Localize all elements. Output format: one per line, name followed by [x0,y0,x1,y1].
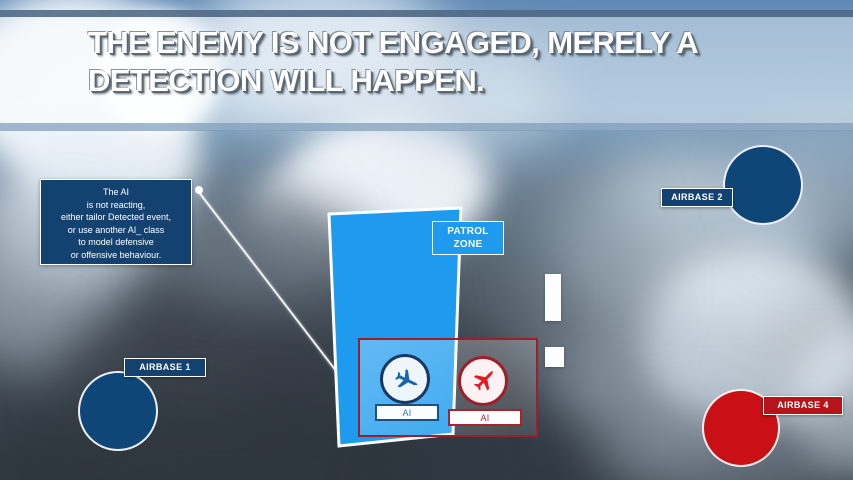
red-fighter-jet-icon [458,356,508,406]
patrol-zone-label-line-1: PATROL [433,225,503,238]
friendly-unit [380,354,430,404]
banner-top-edge [0,10,853,17]
airbase-1-label: AIRBASE 1 [124,358,206,377]
white-marker-tall [545,274,561,321]
note-line-2: is not reacting, [41,199,191,212]
airbase-2-marker [723,145,803,225]
page-title: THE ENEMY IS NOT ENGAGED, MERELY A DETEC… [88,24,808,100]
note-line-4: or use another AI_ class [41,224,191,237]
white-marker-small [545,347,564,367]
airbase-1-marker [78,371,158,451]
airbase-4-label: AIRBASE 4 [763,396,843,415]
friendly-unit-ai-tag: AI [375,404,439,421]
hostile-unit [458,356,508,406]
title-line-1: THE ENEMY IS NOT ENGAGED, MERELY A [88,25,698,60]
hostile-unit-ai-tag: AI [448,409,522,426]
patrol-zone-label-line-2: ZONE [433,238,503,251]
note-line-3: either tailor Detected event, [41,211,191,224]
note-line-1: The AI [41,186,191,199]
slide-canvas: THE ENEMY IS NOT ENGAGED, MERELY A DETEC… [0,0,853,480]
ai-behaviour-note: The AI is not reacting, either tailor De… [40,179,192,265]
airbase-2-label: AIRBASE 2 [661,188,733,207]
patrol-zone-label: PATROL ZONE [432,221,504,255]
banner-bottom-edge [0,123,853,131]
note-line-6: or offensive behaviour. [41,249,191,262]
blue-fighter-jet-icon [380,354,430,404]
note-line-5: to model defensive [41,236,191,249]
title-line-2: DETECTION WILL HAPPEN. [88,62,808,100]
